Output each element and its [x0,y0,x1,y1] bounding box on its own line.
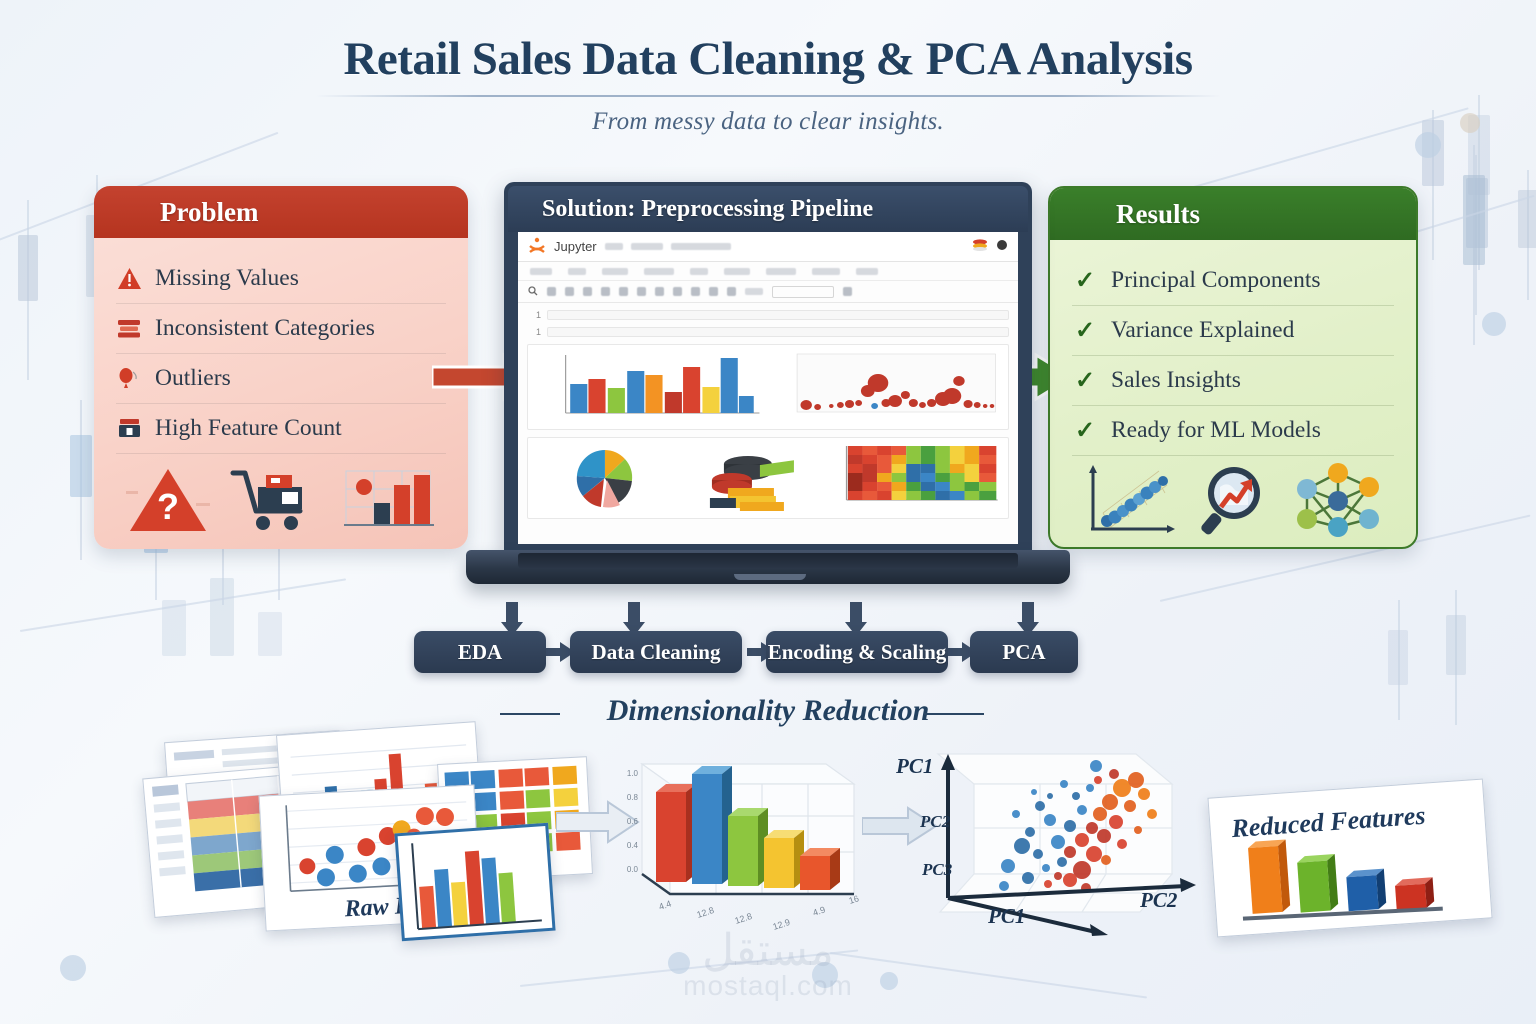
problem-item-outliers: Outliers [116,354,446,404]
scatter-trend-icon [1081,463,1177,542]
check-icon: ✓ [1072,318,1098,344]
svg-text:0.8: 0.8 [627,793,639,802]
pipeline-step-data-cleaning[interactable]: Data Cleaning [570,631,742,673]
pipeline-step-pca[interactable]: PCA [970,631,1078,673]
results-item-label: Variance Explained [1111,317,1294,344]
problem-item-inconsistent-categories: Inconsistent Categories [116,304,446,354]
pca-axis-label-pc3: PC3 [922,860,952,880]
svg-text:1.0: 1.0 [627,769,639,778]
notebook-output-row-1 [527,344,1009,430]
results-panel-body: ✓ Principal Components ✓ Variance Explai… [1050,240,1416,549]
menu-item[interactable] [602,268,628,275]
problem-item-label: Inconsistent Categories [155,315,375,342]
toolbar-chip [605,243,623,250]
menu-item[interactable] [812,268,840,275]
toolbar-chip [631,243,663,250]
kernel-status-icon [972,238,988,256]
save-icon[interactable] [547,287,556,296]
menu-item[interactable] [724,268,750,275]
stacked-layers-icon [116,316,142,342]
question-warning-icon: ? [126,463,210,540]
notebook-screen: Jupyter [518,232,1018,544]
page-header: Retail Sales Data Cleaning & PCA Analysi… [0,32,1536,136]
check-icon: ✓ [1072,268,1098,294]
watermark-arabic: مستقل [702,926,834,975]
cell-type-select[interactable] [772,286,834,298]
results-item-sales-insights: ✓ Sales Insights [1072,356,1394,406]
stop-icon[interactable] [655,287,664,296]
section-title-label: Dimensionality Reduction [607,694,930,727]
problem-panel-header: Problem [94,186,468,238]
problem-item-high-feature-count: High Feature Count [116,404,446,454]
pipeline-step-eda[interactable]: EDA [414,631,546,673]
results-item-label: Ready for ML Models [1111,417,1321,444]
menu-item[interactable] [644,268,674,275]
reduced-features-card: Reduced Features [1207,779,1492,938]
solution-panel-title: Solution: Preprocessing Pipeline [542,196,873,223]
watermark-latin: mostaql.com [0,970,1536,1002]
svg-text:0.6: 0.6 [627,817,639,826]
problem-item-label: Missing Values [155,265,299,292]
tool-chip[interactable] [745,288,763,295]
feature-box-icon [116,416,142,442]
problem-panel: Problem Missing Values Inconsistent Cate… [94,186,468,549]
menu-item[interactable] [690,268,708,275]
jupyter-toolbar[interactable]: Jupyter [518,232,1018,262]
infographic-canvas: Retail Sales Data Cleaning & PCA Analysi… [0,0,1536,1024]
solution-panel-header: Solution: Preprocessing Pipeline [508,186,1028,232]
problem-item-missing-values: Missing Values [116,254,446,304]
notebook-cell[interactable]: 1 [527,310,1009,320]
stacked-blocks-output [682,444,820,512]
magnifier-growth-icon [1194,461,1274,542]
section-rule-left [500,713,560,715]
results-item-variance-explained: ✓ Variance Explained [1072,306,1394,356]
page-subtitle: From messy data to clear insights. [0,108,1536,136]
shopping-cart-icon [229,465,321,540]
search-icon[interactable] [528,283,538,301]
cell-code-area[interactable] [547,327,1009,337]
outlier-balloon-icon [116,366,142,392]
cell-number: 1 [527,327,541,337]
pca-axis-label-pc2-depth: PC2 [920,812,950,832]
paste-icon[interactable] [619,287,628,296]
warning-triangle-icon [116,266,142,292]
command-palette-icon[interactable] [843,287,852,296]
laptop-notch [734,574,806,580]
results-panel-header: Results [1050,188,1416,240]
dimred-3d-bar-chart: 1.0 0.8 0.6 0.4 0.0 [614,752,894,932]
cell-type-icon[interactable] [709,287,718,296]
solution-laptop: Solution: Preprocessing Pipeline Jupyter [466,182,1070,602]
menu-item[interactable] [568,268,586,275]
notebook-cell[interactable]: 1 [527,327,1009,337]
raw-data-card-colorbars [394,823,555,941]
results-item-label: Principal Components [1111,267,1321,294]
check-icon: ✓ [1072,368,1098,394]
results-panel: Results ✓ Principal Components ✓ Varianc… [1048,186,1418,549]
restart-icon[interactable] [673,287,682,296]
bar-chart-output [536,351,764,423]
jupyter-menubar[interactable] [518,262,1018,281]
pca-3d-scatter-chart: PC1 PC2 PC3 PC1 PC2 [900,736,1200,946]
problem-panel-body: Missing Values Inconsistent Categories [94,238,468,549]
problem-item-label: Outliers [155,365,231,392]
pipeline-step-encoding-scaling[interactable]: Encoding & Scaling [766,631,948,673]
svg-text:4.4: 4.4 [658,899,673,912]
results-item-principal-components: ✓ Principal Components [1072,256,1394,306]
results-item-label: Sales Insights [1111,367,1241,394]
logout-icon[interactable] [996,238,1008,256]
watermark: مستقل mostaql.com [0,925,1536,1002]
results-item-ready-for-ml: ✓ Ready for ML Models [1072,406,1394,456]
title-divider [316,95,1221,97]
pca-axis-label-pc1-vertical: PC1 [896,754,933,779]
menu-item[interactable] [856,268,878,275]
run-icon[interactable] [637,287,646,296]
pipeline-step-label: Data Cleaning [592,640,721,665]
cell-number: 1 [527,310,541,320]
jupyter-button-row[interactable] [518,281,1018,303]
heatmap-output [828,444,1000,512]
neural-network-icon [1291,463,1385,542]
problem-panel-title: Problem [160,197,258,228]
pipeline-step-label: Encoding & Scaling [768,640,947,665]
pie-chart-output [536,444,674,512]
cut-icon[interactable] [583,287,592,296]
copy-icon[interactable] [601,287,610,296]
chevron-down-icon[interactable] [727,287,736,296]
svg-text:0.4: 0.4 [627,841,639,850]
bar-chart-icon [340,463,436,540]
page-title: Retail Sales Data Cleaning & PCA Analysi… [0,32,1536,86]
problem-item-label: High Feature Count [155,415,342,442]
svg-text:0.0: 0.0 [627,865,639,874]
menu-item[interactable] [530,268,552,275]
problem-illustrations: ? [116,454,446,540]
jupyter-logo-icon [528,237,546,257]
pipeline-step-label: EDA [458,640,502,665]
check-icon: ✓ [1072,418,1098,444]
section-rule-right [924,713,984,715]
dimensionality-section-title: Dimensionality Reduction [0,694,1536,728]
results-panel-title: Results [1116,199,1200,230]
results-illustrations [1072,456,1394,542]
toolbar-chip [671,243,731,250]
svg-text:4.9: 4.9 [812,905,827,918]
menu-item[interactable] [766,268,796,275]
svg-text:12.8: 12.8 [734,911,754,926]
laptop-keyboard [518,553,1018,568]
laptop-lid: Solution: Preprocessing Pipeline Jupyter [504,182,1032,554]
bubble-scatter-output [772,351,1000,423]
pipeline-step-label: PCA [1002,640,1045,665]
svg-text:?: ? [157,486,179,527]
fastforward-icon[interactable] [691,287,700,296]
pca-axis-label-pc2-bottom: PC2 [1140,888,1177,913]
jupyter-brand-label: Jupyter [554,239,597,254]
svg-text:12.8: 12.8 [696,905,716,920]
cell-code-area[interactable] [547,310,1009,320]
notebook-output-row-2 [527,437,1009,519]
svg-text:16: 16 [848,893,861,906]
reduced-features-label-text: Reduced Features [1230,801,1427,844]
add-cell-icon[interactable] [565,287,574,296]
